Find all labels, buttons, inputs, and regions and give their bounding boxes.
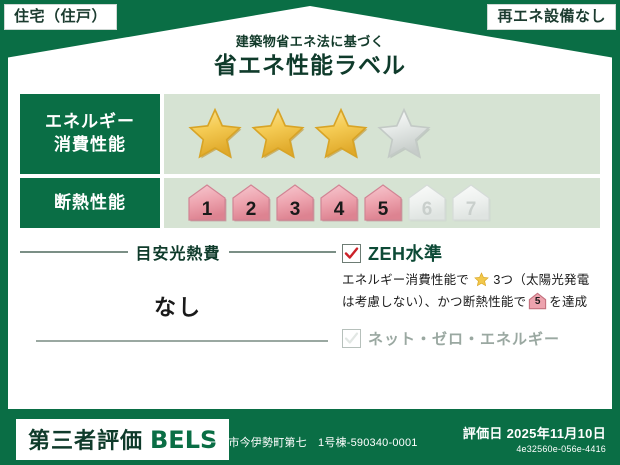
net-zero-energy-checkbox[interactable]: [342, 329, 361, 348]
badge-renewable-status: 再エネ設備なし: [487, 4, 616, 30]
utility-cost-bottom-rule: [36, 340, 328, 342]
zeh-desc-part2: 3つ（太陽光発電: [493, 273, 589, 287]
star-filled-icon: [186, 106, 244, 162]
insulation-level-number: 7: [450, 200, 492, 219]
utility-cost-panel: 目安光熱費 なし: [20, 238, 336, 356]
energy-performance-value: [164, 94, 600, 174]
insulation-level-inactive: 6: [406, 183, 448, 223]
zeh-desc-part3: は考慮しない）、かつ断熱性能で: [342, 295, 526, 309]
insulation-performance-label: 断熱性能: [20, 178, 160, 228]
net-zero-energy-label: ネット・ゼロ・エネルギー: [368, 328, 560, 349]
net-zero-energy-row: ネット・ゼロ・エネルギー: [342, 328, 600, 349]
zeh-desc-part4: を達成: [549, 295, 587, 309]
insulation-level-active: 5: [362, 183, 404, 223]
utility-cost-title: 目安光熱費: [136, 240, 221, 264]
bels-energy-label: 建築物省エネ法に基づく 省エネ性能ラベル 住宅（住戸） 再エネ設備なし エネルギ…: [0, 0, 620, 465]
utility-cost-header: 目安光熱費: [20, 240, 336, 264]
energy-performance-row: エネルギー 消費性能: [20, 86, 600, 174]
insulation-level-number: 4: [318, 200, 360, 219]
zeh-checkbox[interactable]: [342, 244, 361, 263]
label-title-block: 建築物省エネ法に基づく 省エネ性能ラベル: [0, 34, 620, 79]
inline-house-number: 5: [528, 295, 547, 310]
badge-building-type: 住宅（住戸）: [4, 4, 117, 30]
zeh-panel: ZEH水準 エネルギー消費性能で 3つ（太陽光発電は考慮しない）、かつ断熱性能で…: [336, 238, 600, 356]
zeh-desc-part1: エネルギー消費性能で: [342, 273, 469, 287]
insulation-level-active: 1: [186, 183, 228, 223]
insulation-level-active: 4: [318, 183, 360, 223]
insulation-performance-row: 断熱性能 1234567: [20, 174, 600, 228]
energy-label-line2: 消費性能: [54, 134, 126, 157]
energy-performance-label: エネルギー 消費性能: [20, 94, 160, 174]
evaluation-date: 評価日 2025年11月10日: [463, 423, 606, 442]
bels-plate: 第三者評価 BELS: [16, 419, 229, 460]
insulation-level-number: 3: [274, 200, 316, 219]
zeh-description: エネルギー消費性能で 3つ（太陽光発電は考慮しない）、かつ断熱性能で 5 を達成: [342, 271, 600, 311]
star-filled-icon: [249, 106, 307, 162]
label-title: 省エネ性能ラベル: [0, 51, 620, 80]
label-body-card: エネルギー 消費性能 断熱性能 1234567 目安光熱費: [8, 86, 612, 409]
rule-left: [20, 251, 128, 253]
evaluation-id: 4e32560e-056e-4416: [463, 444, 606, 454]
insulation-level-number: 1: [186, 200, 228, 219]
insulation-level-active: 2: [230, 183, 272, 223]
insulation-level-number: 5: [362, 200, 404, 219]
star-filled-icon: [312, 106, 370, 162]
inline-house-icon: 5: [528, 292, 547, 310]
third-party-eval-text: 第三者評価: [28, 423, 143, 455]
label-footer: 第三者評価 BELS 一宮市今伊勢町第七 1号棟-590340-0001 評価日…: [0, 409, 620, 465]
zeh-title: ZEH水準: [368, 240, 443, 266]
insulation-performance-value: 1234567: [164, 178, 600, 228]
insulation-level-number: 6: [406, 200, 448, 219]
property-address: 一宮市今伊勢町第七 1号棟-590340-0001: [206, 434, 418, 450]
insulation-level-number: 2: [230, 200, 272, 219]
evaluation-info: 評価日 2025年11月10日 4e32560e-056e-4416: [463, 423, 606, 454]
insulation-level-inactive: 7: [450, 183, 492, 223]
insulation-level-scale: 1234567: [186, 183, 492, 223]
energy-label-line1: エネルギー: [45, 111, 135, 134]
star-empty-icon: [375, 106, 433, 162]
insulation-label-text: 断熱性能: [54, 192, 126, 215]
utility-cost-value: なし: [20, 290, 336, 322]
lower-section: 目安光熱費 なし ZEH水準 エネルギー消費性能で: [20, 238, 600, 356]
star-rating: [186, 106, 433, 162]
inline-star-icon: [470, 276, 492, 290]
label-subtitle: 建築物省エネ法に基づく: [0, 34, 620, 50]
zeh-title-row: ZEH水準: [342, 240, 600, 266]
rule-right: [229, 251, 337, 253]
insulation-level-active: 3: [274, 183, 316, 223]
